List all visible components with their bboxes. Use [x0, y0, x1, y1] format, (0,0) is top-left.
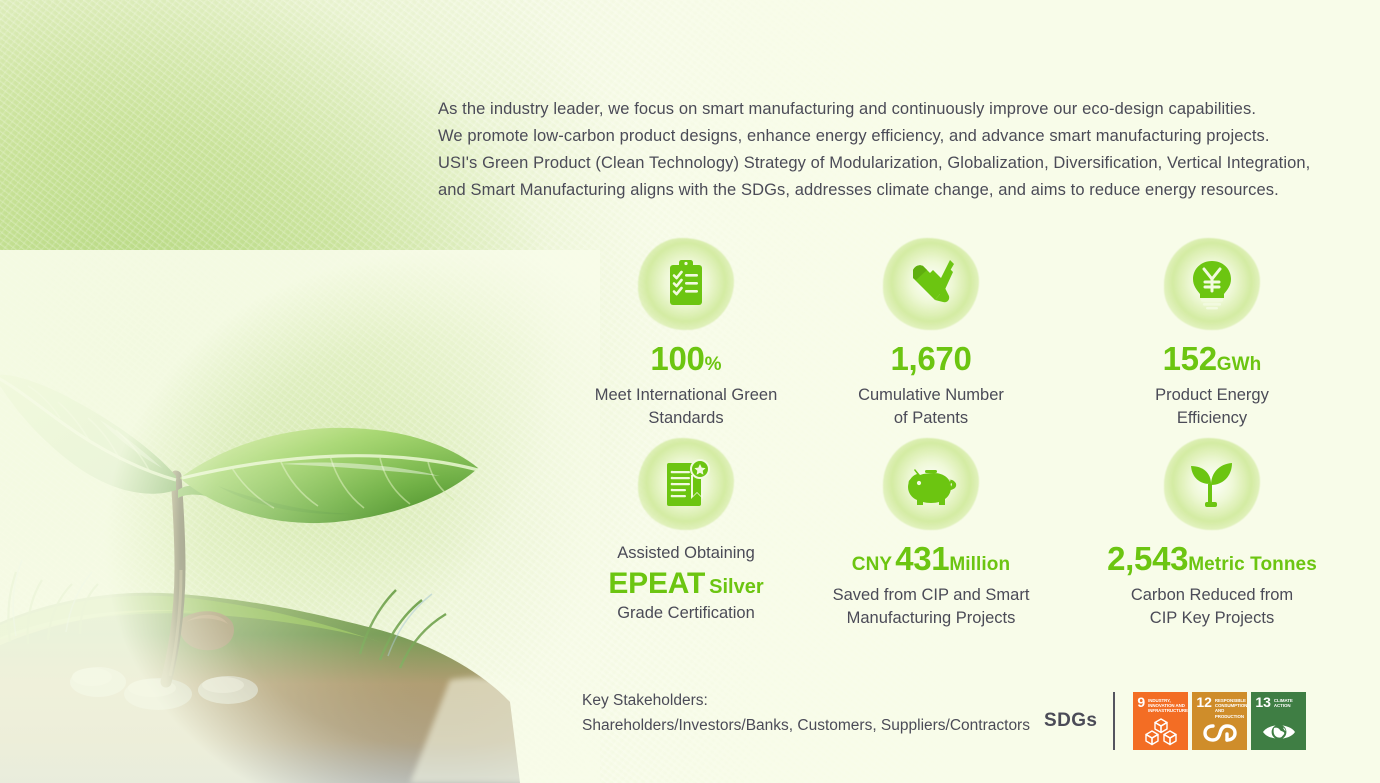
intro-line-3: USI's Green Product (Clean Technology) S…	[438, 150, 1338, 177]
stat-label-line1: Carbon Reduced from	[1131, 586, 1293, 604]
stat-carbon-reduced: 2,543Metric Tonnes Carbon Reduced from C…	[1062, 438, 1362, 638]
stat-number: 1,670	[890, 340, 971, 377]
stat-value: 152GWh	[1062, 342, 1362, 377]
sdg-badge-9[interactable]: 9 Industry, Innovation and Infrastructur…	[1133, 692, 1188, 750]
sdg-badge-header: 12 Responsible Consumption and Productio…	[1196, 697, 1243, 719]
stat-value: 100%	[572, 342, 800, 377]
certificate-star-icon	[660, 458, 712, 510]
stat-number: 100	[650, 340, 704, 377]
intro-paragraph: As the industry leader, we focus on smar…	[438, 96, 1338, 204]
stat-icon-badge	[638, 238, 734, 330]
stat-label: Cumulative Number of Patents	[800, 384, 1062, 430]
stat-label: Saved from CIP and Smart Manufacturing P…	[800, 584, 1062, 630]
eye-globe-icon	[1262, 718, 1296, 746]
stakeholders-title: Key Stakeholders:	[582, 688, 1030, 713]
statistics-grid: 100% Meet International Green Standards	[572, 238, 1372, 638]
epeat-grade: Silver	[709, 576, 763, 598]
stat-value: 2,543Metric Tonnes	[1062, 542, 1362, 577]
stat-label: Assisted Obtaining EPEATSilver Grade Cer…	[572, 542, 800, 625]
stat-lead-text: Assisted Obtaining	[572, 542, 800, 565]
sdg-badge-header: 9 Industry, Innovation and Infrastructur…	[1137, 697, 1184, 714]
stat-row-2: Assisted Obtaining EPEATSilver Grade Cer…	[572, 438, 1372, 638]
stat-cumulative-patents: 1,670 Cumulative Number of Patents	[800, 238, 1062, 438]
sdg-number: 9	[1137, 697, 1145, 708]
sdg-block: SDGs 9 Industry, Innovation and Infrastr…	[1044, 692, 1306, 750]
stat-label-line1: Product Energy	[1155, 386, 1269, 404]
key-stakeholders: Key Stakeholders: Shareholders/Investors…	[582, 688, 1030, 738]
intro-line-1: As the industry leader, we focus on smar…	[438, 96, 1338, 123]
sdg-title: Responsible Consumption and Production	[1215, 697, 1247, 719]
cubes-icon	[1144, 718, 1178, 746]
footer: Key Stakeholders: Shareholders/Investors…	[582, 688, 1322, 738]
stat-product-energy-efficiency: 152GWh Product Energy Efficiency	[1062, 238, 1362, 438]
infinity-icon	[1203, 718, 1237, 746]
sdg-number: 12	[1196, 697, 1212, 708]
epeat-name: EPEAT	[608, 567, 705, 600]
stat-unit: GWh	[1217, 354, 1262, 375]
intro-line-2: We promote low-carbon product designs, e…	[438, 123, 1338, 150]
stat-currency: CNY	[852, 554, 892, 575]
sprout-icon	[1186, 458, 1238, 510]
stat-label-line2: Standards	[648, 409, 723, 427]
stat-unit: %	[705, 354, 722, 375]
stat-number: 431	[895, 540, 949, 577]
stat-label: Meet International Green Standards	[572, 384, 800, 430]
stat-label-line2: CIP Key Projects	[1150, 609, 1274, 627]
stat-epeat-silver: Assisted Obtaining EPEATSilver Grade Cer…	[572, 438, 800, 638]
sdg-number: 13	[1255, 697, 1271, 708]
stat-number: 152	[1163, 340, 1217, 377]
stat-icon-badge	[883, 238, 979, 330]
sdg-badge-12[interactable]: 12 Responsible Consumption and Productio…	[1192, 692, 1247, 750]
stat-value: 1,670	[800, 342, 1062, 377]
stat-row-1: 100% Meet International Green Standards	[572, 238, 1372, 438]
stat-label-line1: Cumulative Number	[858, 386, 1004, 404]
sdg-badge-header: 13 Climate Action	[1255, 697, 1302, 708]
stat-label: Product Energy Efficiency	[1062, 384, 1362, 430]
sdg-title: Industry, Innovation and Infrastructure	[1148, 697, 1188, 714]
stat-label-line2: Grade Certification	[617, 604, 755, 622]
stat-label-line2: Efficiency	[1177, 409, 1247, 427]
stat-unit: Metric Tonnes	[1188, 554, 1317, 575]
stat-meet-green-standards: 100% Meet International Green Standards	[572, 238, 800, 438]
stat-unit: Million	[949, 554, 1010, 575]
stakeholders-list: Shareholders/Investors/Banks, Customers,…	[582, 713, 1030, 738]
stat-number: 2,543	[1107, 540, 1188, 577]
sdg-badges: 9 Industry, Innovation and Infrastructur…	[1133, 692, 1306, 750]
stat-label-line1: Saved from CIP and Smart	[833, 586, 1030, 604]
infographic-page: As the industry leader, we focus on smar…	[0, 0, 1380, 783]
stat-cny-saved: CNY431Million Saved from CIP and Smart M…	[800, 438, 1062, 638]
pencil-check-icon	[905, 258, 957, 310]
lightbulb-yen-icon	[1186, 258, 1238, 310]
sdg-divider	[1113, 692, 1115, 750]
piggy-bank-icon	[905, 458, 957, 510]
clipboard-checklist-icon	[660, 258, 712, 310]
sdg-label: SDGs	[1044, 710, 1097, 732]
stat-label-line1: Meet International Green	[595, 386, 778, 404]
stat-icon-badge	[638, 438, 734, 530]
sdg-badge-13[interactable]: 13 Climate Action	[1251, 692, 1306, 750]
stat-value: CNY431Million	[800, 542, 1062, 577]
sdg-title: Climate Action	[1274, 697, 1302, 708]
stat-label-line2: of Patents	[894, 409, 968, 427]
stat-label-line2: Manufacturing Projects	[847, 609, 1016, 627]
stat-icon-badge	[883, 438, 979, 530]
stat-label: Carbon Reduced from CIP Key Projects	[1062, 584, 1362, 630]
stat-icon-badge	[1164, 238, 1260, 330]
stat-highlight: EPEATSilver	[572, 567, 800, 600]
stat-icon-badge	[1164, 438, 1260, 530]
intro-line-4: and Smart Manufacturing aligns with the …	[438, 177, 1338, 204]
